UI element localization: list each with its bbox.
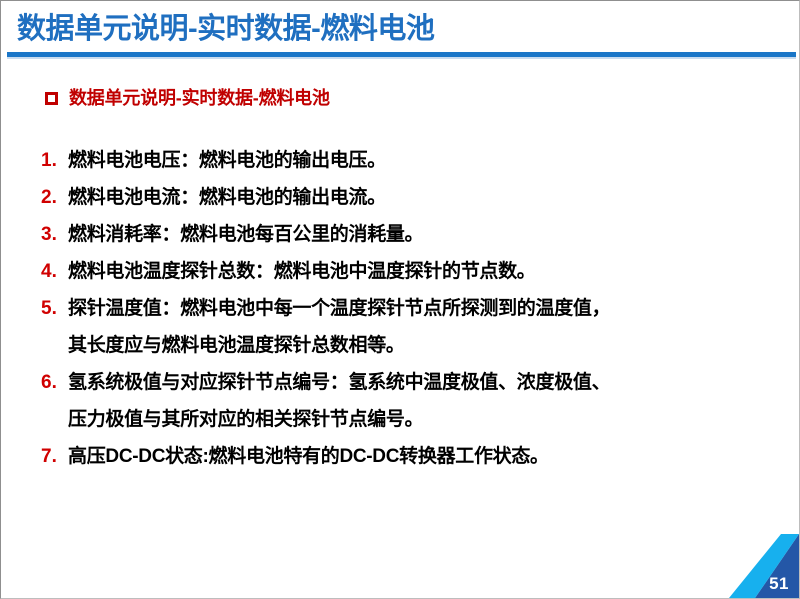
list-item-text: 燃料电池电压：燃料电池的输出电压。 (68, 142, 761, 179)
section-subtitle-label: 数据单元说明-实时数据-燃料电池 (69, 84, 330, 110)
slide: 数据单元说明-实时数据-燃料电池 数据单元说明-实时数据-燃料电池 1. 燃料电… (0, 0, 800, 599)
list-item-text: 氢系统极值与对应探针节点编号：氢系统中温度极值、浓度极值、压力极值与其所对应的相… (68, 364, 761, 438)
list-item-number: 2. (41, 179, 68, 216)
page-title: 数据单元说明-实时数据-燃料电池 (17, 12, 434, 47)
list-item-text: 燃料电池电流：燃料电池的输出电流。 (68, 179, 761, 216)
numbered-list: 1. 燃料电池电压：燃料电池的输出电压。 2. 燃料电池电流：燃料电池的输出电流… (41, 142, 761, 475)
list-item: 2. 燃料电池电流：燃料电池的输出电流。 (41, 179, 761, 216)
section-subtitle: 数据单元说明-实时数据-燃料电池 (45, 84, 330, 110)
list-item-text: 燃料消耗率：燃料电池每百公里的消耗量。 (68, 216, 761, 253)
list-item-text: 高压DC-DC状态:燃料电池特有的DC-DC转换器工作状态。 (68, 438, 761, 475)
list-item-line-continuation: 压力极值与其所对应的相关探针节点编号。 (68, 401, 761, 438)
list-item-line: 探针温度值：燃料电池中每一个温度探针节点所探测到的温度值， (68, 290, 761, 327)
list-item-number: 5. (41, 290, 68, 327)
list-item: 5. 探针温度值：燃料电池中每一个温度探针节点所探测到的温度值，其长度应与燃料电… (41, 290, 761, 364)
list-item-number: 1. (41, 142, 68, 179)
list-item: 6. 氢系统极值与对应探针节点编号：氢系统中温度极值、浓度极值、压力极值与其所对… (41, 364, 761, 438)
list-item-number: 6. (41, 364, 68, 401)
list-item-number: 4. (41, 253, 68, 290)
list-item: 1. 燃料电池电压：燃料电池的输出电压。 (41, 142, 761, 179)
list-item: 4. 燃料电池温度探针总数：燃料电池中温度探针的节点数。 (41, 253, 761, 290)
list-item-number: 7. (41, 438, 68, 475)
list-item-text: 燃料电池温度探针总数：燃料电池中温度探针的节点数。 (68, 253, 761, 290)
slide-body: 数据单元说明-实时数据-燃料电池 1. 燃料电池电压：燃料电池的输出电压。 2.… (1, 58, 800, 599)
list-item-line-continuation: 其长度应与燃料电池温度探针总数相等。 (68, 327, 761, 364)
list-item-line: 氢系统极值与对应探针节点编号：氢系统中温度极值、浓度极值、 (68, 364, 761, 401)
list-item-number: 3. (41, 216, 68, 253)
hollow-square-bullet-icon (45, 92, 58, 105)
slide-header: 数据单元说明-实时数据-燃料电池 (1, 1, 800, 58)
list-item-text: 探针温度值：燃料电池中每一个温度探针节点所探测到的温度值，其长度应与燃料电池温度… (68, 290, 761, 364)
list-item: 7. 高压DC-DC状态:燃料电池特有的DC-DC转换器工作状态。 (41, 438, 761, 475)
list-item: 3. 燃料消耗率：燃料电池每百公里的消耗量。 (41, 216, 761, 253)
